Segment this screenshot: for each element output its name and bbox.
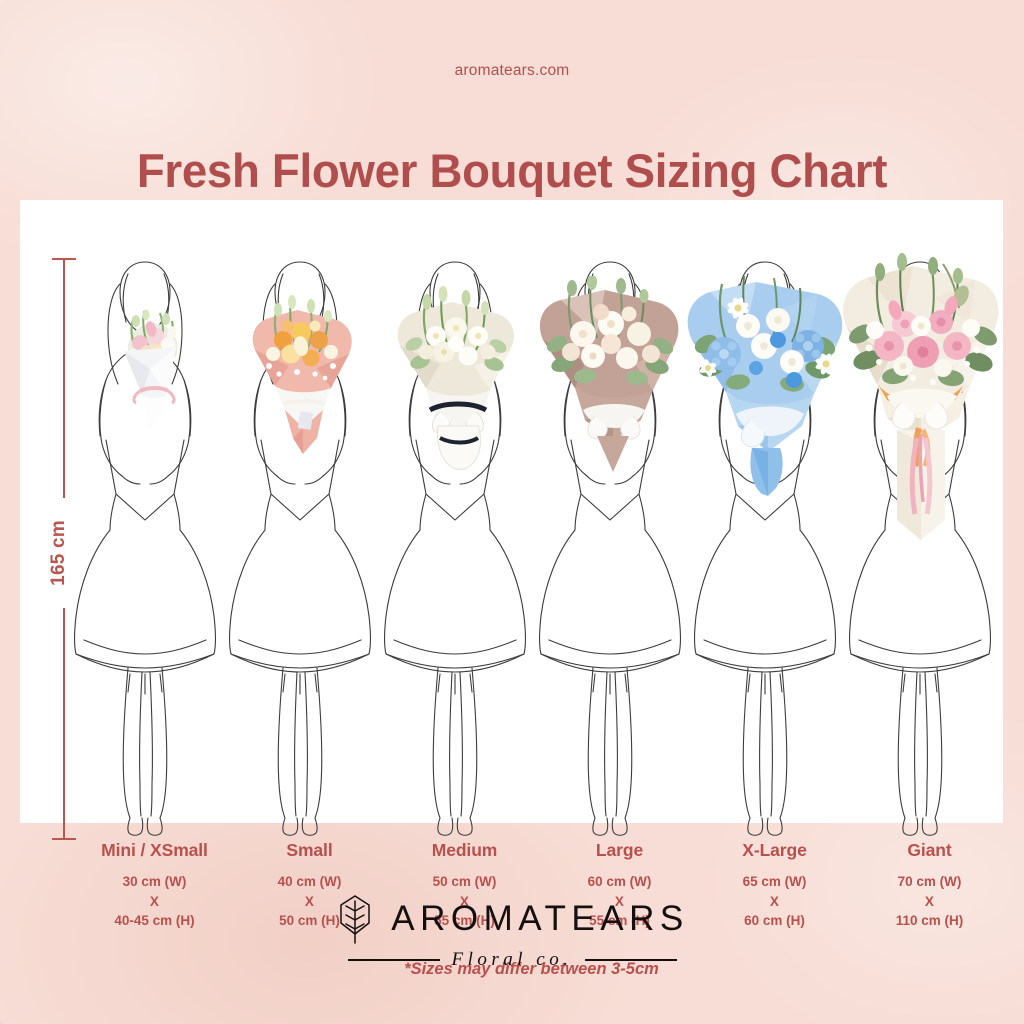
size-width: 70 cm (W) — [842, 872, 1017, 892]
figure-mini-xsmall — [68, 244, 223, 844]
logo-rule-left — [348, 959, 440, 961]
figure-large — [533, 244, 688, 844]
sizing-chart-card: 165 cm — [20, 200, 1003, 823]
size-width: 30 cm (W) — [67, 872, 242, 892]
size-name: Giant — [842, 840, 1017, 861]
figure-row — [68, 244, 998, 844]
figure-medium — [378, 244, 533, 844]
logo-tagline: Floral co. — [452, 949, 573, 971]
logo-wordmark: AROMATEARS — [391, 900, 688, 938]
size-name: Medium — [377, 840, 552, 861]
leaf-icon — [335, 893, 375, 945]
site-url: aromatears.com — [0, 62, 1024, 80]
bouquet-image-x-large — [682, 270, 850, 500]
figure-small — [223, 244, 378, 844]
size-name: Large — [532, 840, 707, 861]
bouquet-image-small — [243, 292, 365, 457]
bouquet-image-giant — [835, 252, 1007, 552]
figure-giant — [843, 244, 998, 844]
size-width: 40 cm (W) — [222, 872, 397, 892]
page-title: Fresh Flower Bouquet Sizing Chart — [15, 143, 1008, 199]
size-name: Mini / XSmall — [67, 840, 242, 861]
size-width: 50 cm (W) — [377, 872, 552, 892]
logo-bottom-row: Floral co. — [0, 949, 1024, 971]
size-width: 65 cm (W) — [687, 872, 862, 892]
bouquet-image-large — [535, 276, 687, 481]
bouquet-image-medium — [390, 286, 526, 476]
size-width: 60 cm (W) — [532, 872, 707, 892]
brand-logo: AROMATEARS Floral co. — [0, 893, 1024, 993]
logo-top-row: AROMATEARS — [0, 893, 1024, 945]
size-name: Small — [222, 840, 397, 861]
size-name: X-Large — [687, 840, 862, 861]
bouquet-image-mini-xsmall — [104, 299, 196, 444]
logo-rule-right — [585, 959, 677, 961]
figure-x-large — [688, 244, 843, 844]
